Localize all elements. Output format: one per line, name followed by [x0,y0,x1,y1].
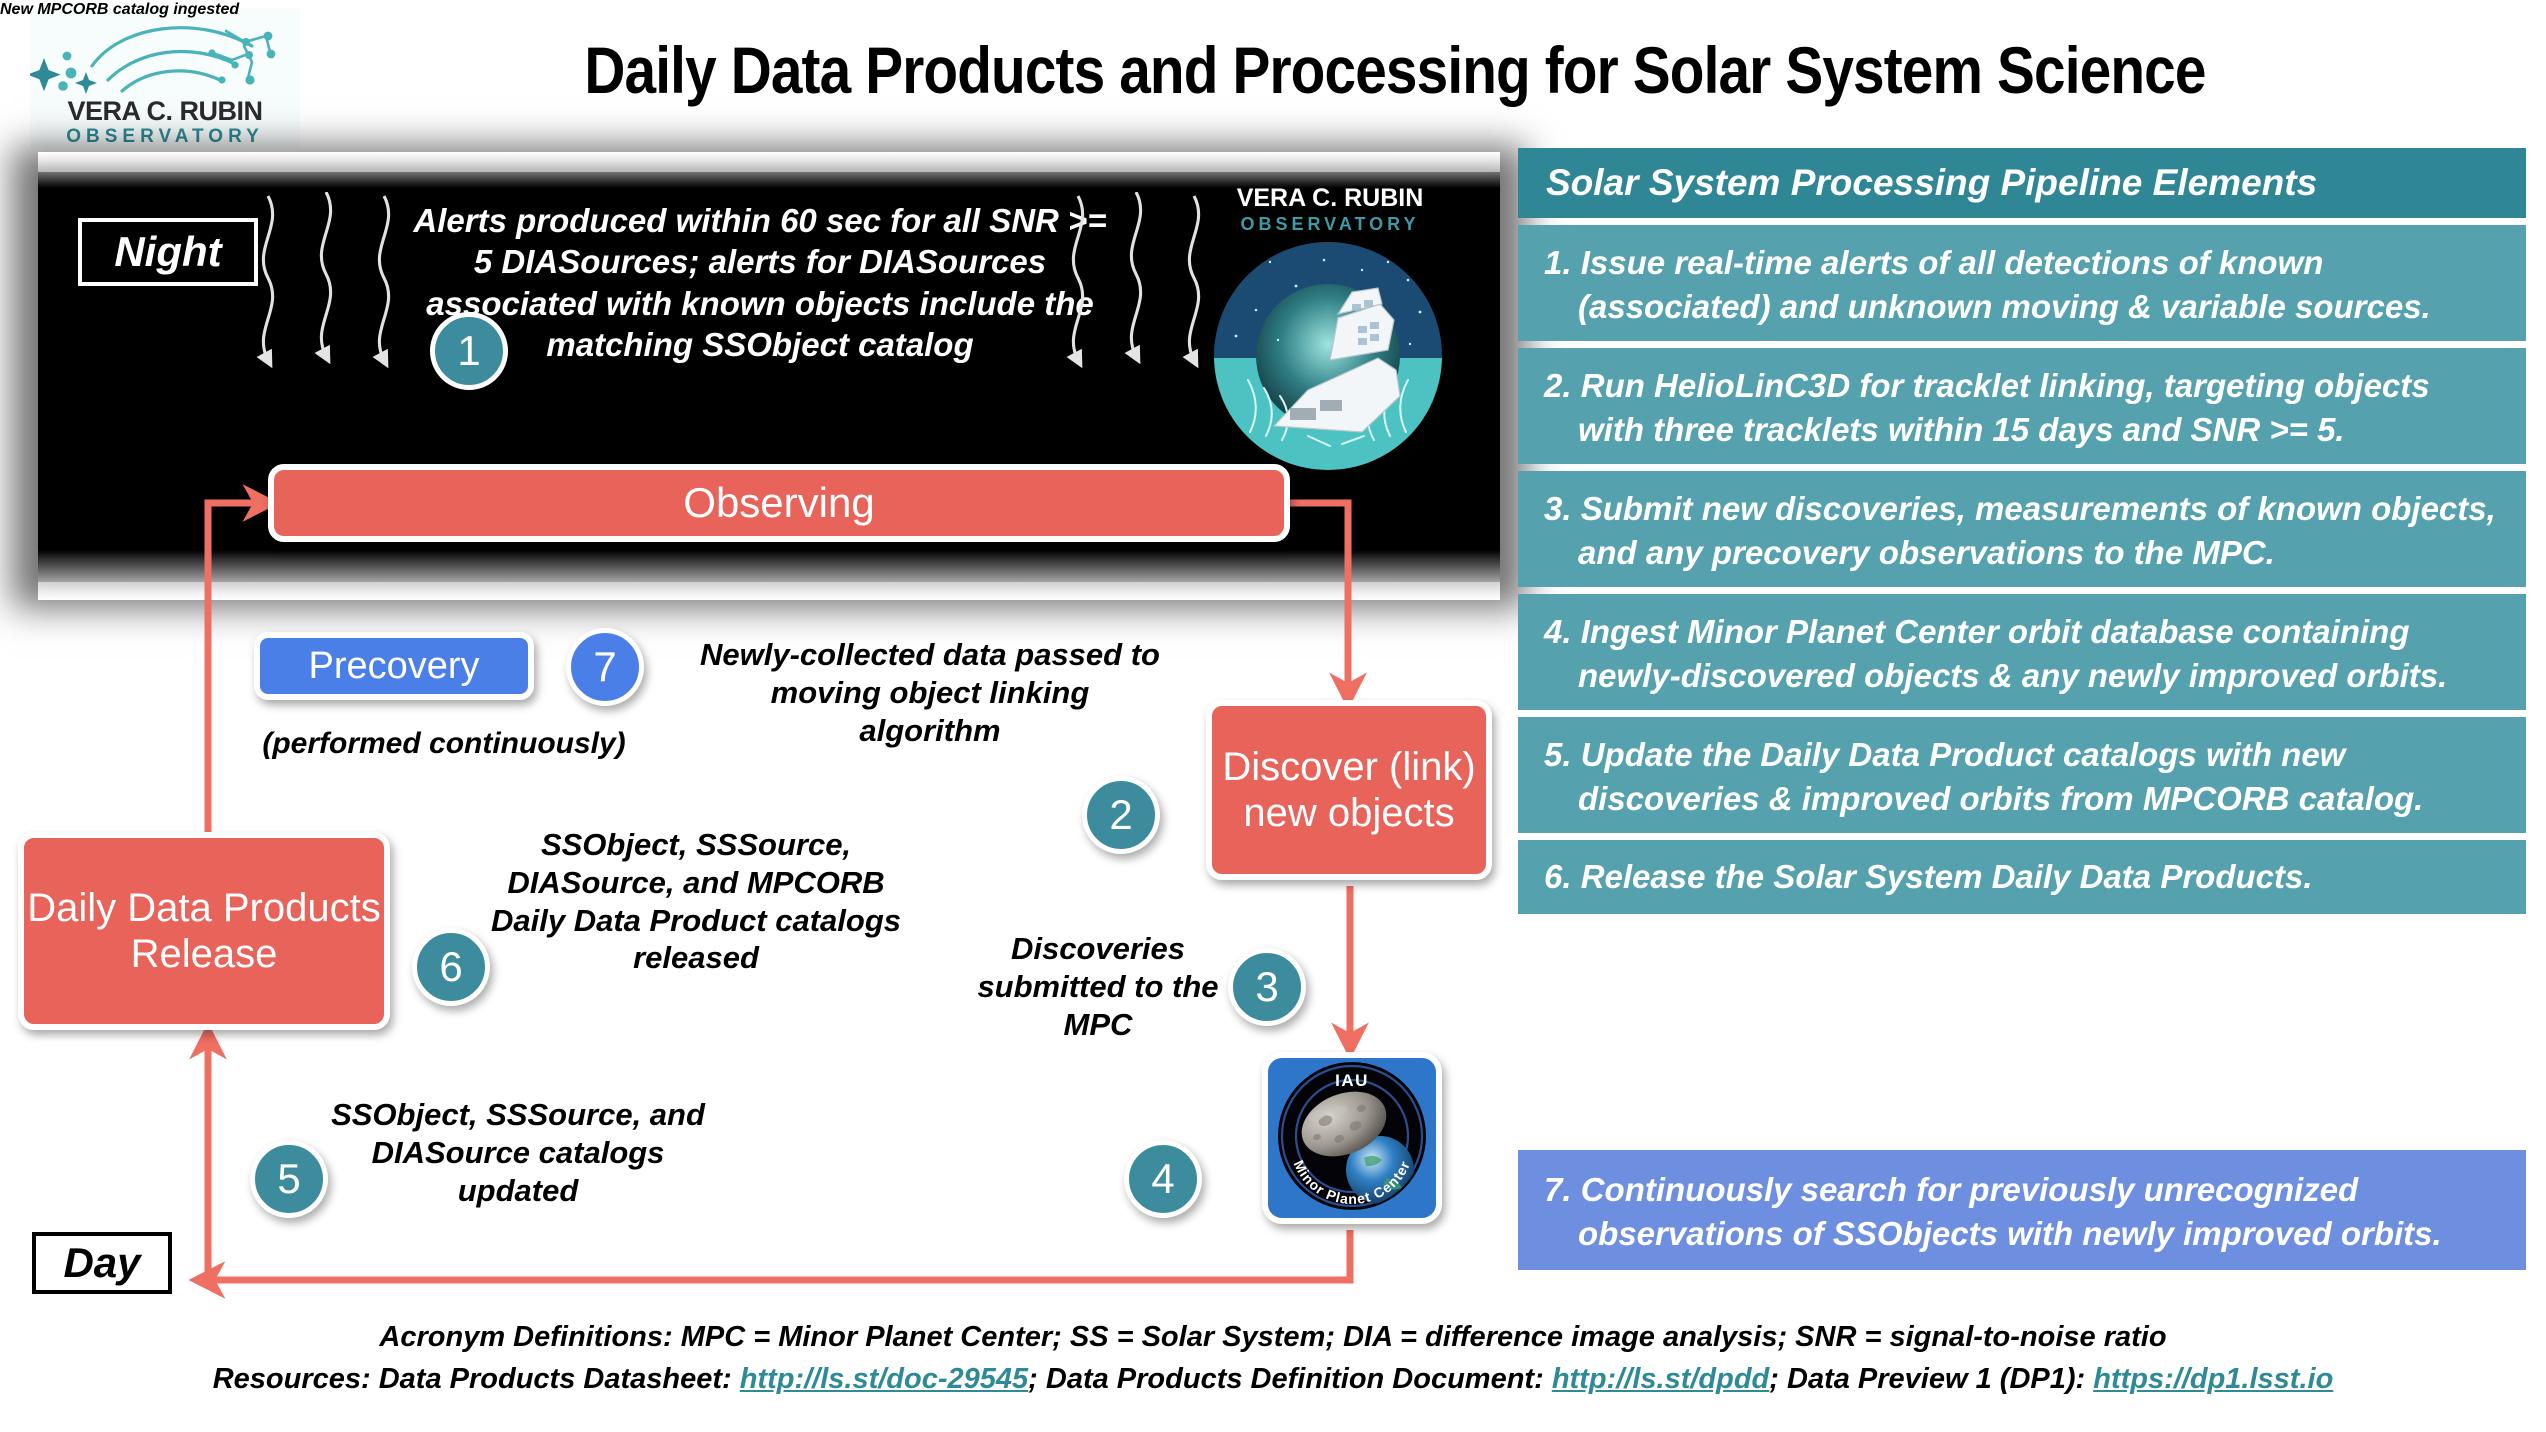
sidebar-item-7-text: 7. Continuously search for previously un… [1544,1168,2500,1255]
step-badge-5[interactable]: 5 [250,1140,328,1218]
page-title: Daily Data Products and Processing for S… [453,32,2336,108]
sidebar-header: Solar System Processing Pipeline Element… [1518,148,2526,218]
sidebar-item-2[interactable]: 2. Run HelioLinC3D for tracklet linking,… [1518,348,2526,464]
caption-newly-collected-data: Newly-collected data passed to moving ob… [700,636,1160,749]
sidebar-item-7[interactable]: 7. Continuously search for previously un… [1518,1150,2526,1270]
step-badge-2[interactable]: 2 [1082,776,1160,854]
link-data-products-datasheet[interactable]: http://ls.st/doc-29545 [740,1363,1028,1395]
step-badge-7[interactable]: 7 [566,628,644,706]
caption-discoveries-submitted: Discoveries submitted to the MPC [968,930,1228,1043]
sidebar-item-2-text: 2. Run HelioLinC3D for tracklet linking,… [1544,364,2500,451]
precovery-box[interactable]: Precovery [254,632,534,700]
caption-mpcorb-ingested: New MPCORB catalog ingested [0,0,239,20]
caption-catalogs-updated: SSObject, SSSource, and DIASource catalo… [318,1096,718,1209]
discover-new-objects-box[interactable]: Discover (link) new objects [1206,700,1492,880]
sidebar-item-5[interactable]: 5. Update the Daily Data Product catalog… [1518,717,2526,833]
sidebar-item-5-text: 5. Update the Daily Data Product catalog… [1544,733,2500,820]
sidebar-item-1-text: 1. Issue real-time alerts of all detecti… [1544,241,2500,328]
observing-box[interactable]: Observing [268,464,1290,542]
sidebar-item-6-text: 6. Release the Solar System Daily Data P… [1544,855,2313,899]
photon-rain-left-icon [250,192,440,492]
caption-catalogs-released: SSObject, SSSource, DIASource, and MPCOR… [486,826,906,977]
daily-data-products-release-box[interactable]: Daily Data Products Release [18,832,390,1030]
step-badge-1[interactable]: 1 [430,312,508,390]
mpc-emblem-icon: IAU Minor Planet Center [1268,1058,1436,1218]
day-label: Day [32,1232,172,1294]
sidebar-item-4-text: 4. Ingest Minor Planet Center orbit data… [1544,610,2500,697]
step-badge-4[interactable]: 4 [1124,1140,1202,1218]
night-headline-text: Alerts produced within 60 sec for all SN… [410,200,1110,365]
sidebar-item-3[interactable]: 3. Submit new discoveries, measurements … [1518,471,2526,587]
precovery-note: (performed continuously) [214,726,674,763]
mpc-iau-text: IAU [1335,1071,1369,1090]
footer-acronyms: Acronym Definitions: MPC = Minor Planet … [0,1316,2546,1358]
pipeline-elements-sidebar: Solar System Processing Pipeline Element… [1518,148,2526,1296]
footer: Acronym Definitions: MPC = Minor Planet … [0,1316,2546,1400]
minor-planet-center-logo: IAU Minor Planet Center [1262,1052,1442,1224]
night-rubin-logo: VERA C. RUBIN OBSERVATORY [1185,182,1475,472]
rubin-logo-arcs-icon [30,8,300,100]
night-logo-wordmark: VERA C. RUBIN [1185,184,1475,213]
rubin-telescope-emblem-icon [1212,240,1444,472]
sidebar-item-3-text: 3. Submit new discoveries, measurements … [1544,487,2500,574]
footer-resources-mid1: ; Data Products Definition Document: [1028,1363,1552,1395]
footer-resources-prefix: Resources: Data Products Datasheet: [213,1363,740,1395]
sidebar-item-6[interactable]: 6. Release the Solar System Daily Data P… [1518,840,2526,914]
sidebar-item-4[interactable]: 4. Ingest Minor Planet Center orbit data… [1518,594,2526,710]
logo-wordmark: VERA C. RUBIN [30,96,300,127]
logo-subwordmark: OBSERVATORY [30,126,300,148]
step-badge-6[interactable]: 6 [412,928,490,1006]
link-dp1[interactable]: https://dp1.lsst.io [2093,1363,2333,1395]
rubin-observatory-logo: VERA C. RUBIN OBSERVATORY [30,8,300,148]
footer-resources-mid2: ; Data Preview 1 (DP1): [1769,1363,2093,1395]
link-dpdd[interactable]: http://ls.st/dpdd [1552,1363,1769,1395]
sidebar-item-1[interactable]: 1. Issue real-time alerts of all detecti… [1518,225,2526,341]
step-badge-3[interactable]: 3 [1228,948,1306,1026]
night-label: Night [78,218,258,286]
night-logo-subwordmark: OBSERVATORY [1185,214,1475,235]
footer-resources: Resources: Data Products Datasheet: http… [0,1358,2546,1400]
